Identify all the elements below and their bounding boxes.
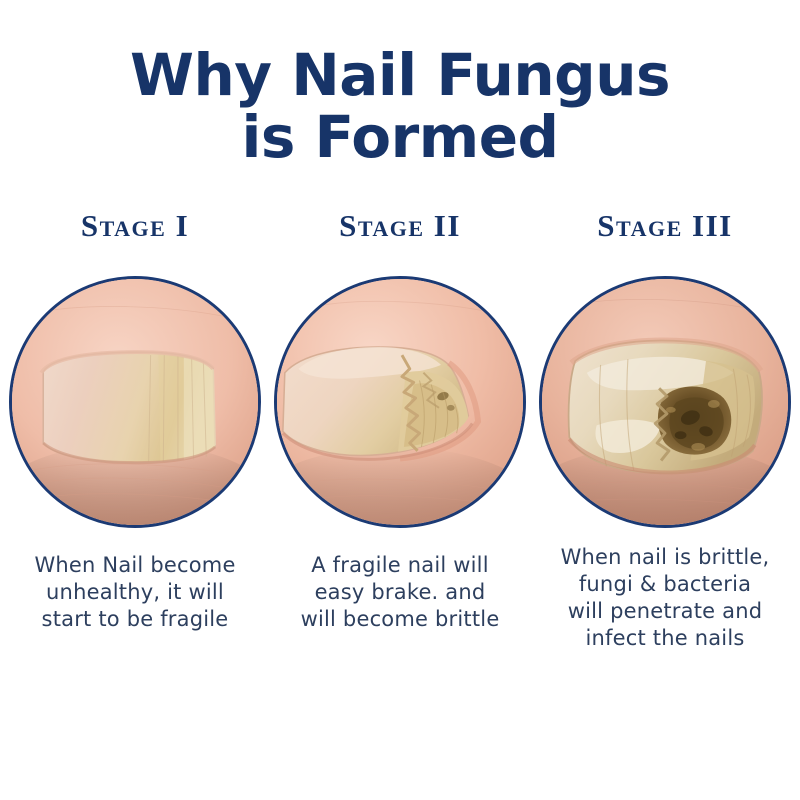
stage-column-1: Stage I — [0, 208, 270, 633]
stage-photo-wrap-3 — [539, 276, 791, 528]
stage-photo-wrap-2 — [274, 276, 526, 528]
stage-columns: Stage I — [0, 0, 800, 800]
stage-caption-2-line-3: will become brittle — [265, 606, 535, 633]
nail-stage-1-photo — [9, 276, 261, 528]
stage-column-3: Stage III — [530, 208, 800, 652]
stage-caption-3: When nail is brittle, fungi & bacteria w… — [530, 544, 800, 652]
stage-caption-2-line-1: A fragile nail will — [265, 552, 535, 579]
stage-photo-wrap-1 — [9, 276, 261, 528]
stage-caption-3-line-3: will penetrate and — [530, 598, 800, 625]
stage-caption-3-line-2: fungi & bacteria — [530, 571, 800, 598]
stage-caption-1-line-3: start to be fragile — [0, 606, 270, 633]
stage-heading-3: Stage III — [530, 208, 800, 250]
stage-caption-2-line-2: easy brake. and — [265, 579, 535, 606]
stage-caption-3-line-1: When nail is brittle, — [530, 544, 800, 571]
stage-caption-1-line-2: unhealthy, it will — [0, 579, 270, 606]
stage-heading-2: Stage II — [265, 208, 535, 250]
stage-caption-1-line-1: When Nail become — [0, 552, 270, 579]
nail-stage-2-photo — [274, 276, 526, 528]
infographic-poster: Why Nail Fungus is Formed Stage I — [0, 0, 800, 800]
stage-caption-3-line-4: infect the nails — [530, 625, 800, 652]
nail-stage-1-illustration — [12, 279, 258, 525]
stage-caption-2: A fragile nail will easy brake. and will… — [265, 552, 535, 633]
stage-column-2: Stage II — [265, 208, 535, 633]
nail-stage-2-illustration — [277, 279, 523, 525]
nail-stage-3-illustration — [542, 279, 788, 525]
stage-heading-1: Stage I — [0, 208, 270, 250]
stage-caption-1: When Nail become unhealthy, it will star… — [0, 552, 270, 633]
nail-stage-3-photo — [539, 276, 791, 528]
